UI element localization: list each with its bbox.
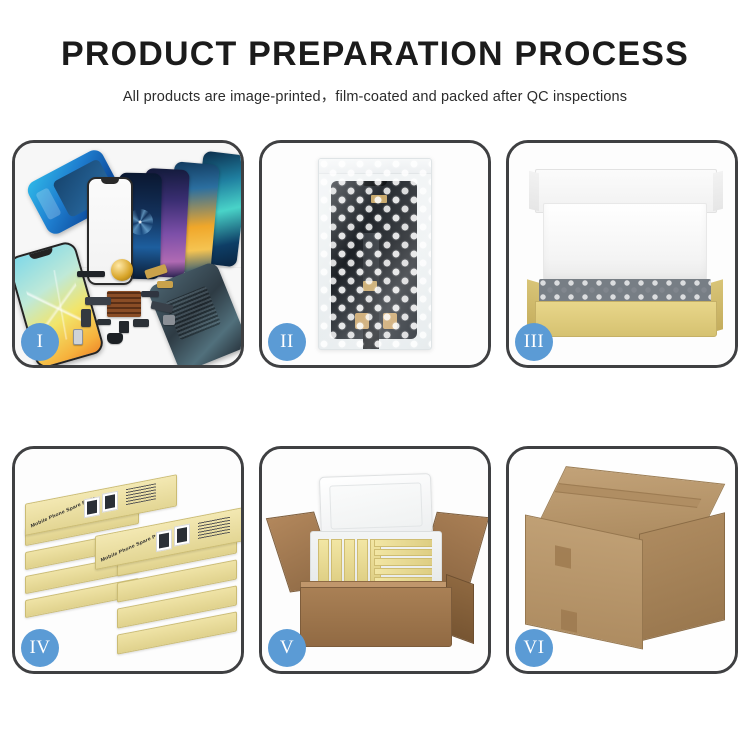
page-title: PRODUCT PREPARATION PROCESS [0,36,750,73]
step-panel-4[interactable]: Mobile Phone Spare Parts Mobile Phone Sp… [12,446,244,674]
open-yellow-box [527,169,723,337]
step-badge-3: III [515,323,553,361]
step-badge-2: II [268,323,306,361]
box-stack: Mobile Phone Spare Parts Mobile Phone Sp… [23,467,233,657]
carton-tape-upper [555,545,571,568]
bubble-wrap-bag [318,158,432,350]
open-shipping-carton [278,469,478,649]
speaker-coil-part [111,259,133,281]
page-header: PRODUCT PREPARATION PROCESS All products… [0,0,750,106]
step-badge-5: V [268,629,306,667]
yellow-boxes-horizontal [374,539,432,585]
step-panel-3[interactable]: III [506,140,738,368]
process-steps-grid: I II [12,140,738,674]
step-badge-1: I [21,323,59,361]
carton-tape-lower [561,609,577,632]
step-panel-2[interactable]: II [259,140,491,368]
step-badge-6: VI [515,629,553,667]
sealed-carton [523,475,725,641]
page-subtitle: All products are image-printed，film-coat… [0,85,750,106]
step-panel-5[interactable]: V [259,446,491,674]
step-panel-1[interactable]: I [12,140,244,368]
box-front-face [535,301,717,337]
step-badge-4: IV [21,629,59,667]
chip-array-part [107,291,141,317]
carton-side-face [639,512,725,641]
step-panel-6[interactable]: VI [506,446,738,674]
carton-front-face [300,587,452,647]
white-foam-sheet [543,203,707,283]
